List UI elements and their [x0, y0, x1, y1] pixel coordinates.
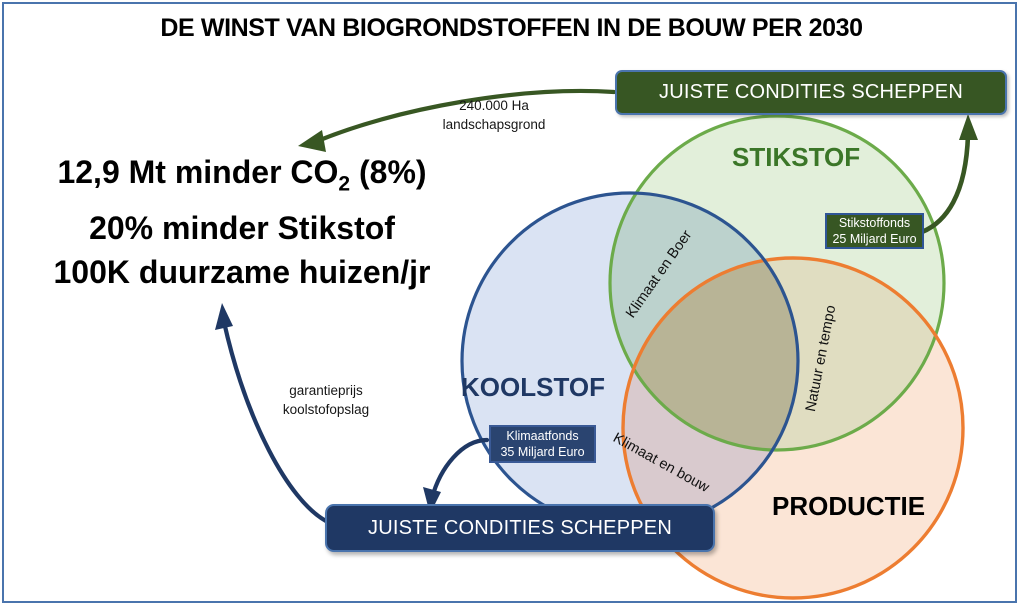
annotation-landschapsgrond-line2: landschapsgrond	[404, 115, 584, 134]
key-figure-stikstof: 20% minder Stikstof	[14, 206, 470, 250]
key-figure-co2: 12,9 Mt minder CO2 (8%)	[14, 150, 470, 206]
conditions-box-stikstof[interactable]: JUISTE CONDITIES SCHEPPEN	[615, 70, 1007, 115]
venn-label-stikstof: STIKSTOF	[732, 142, 860, 173]
key-figure-co2-suffix: (8%)	[350, 154, 426, 190]
annotation-garantieprijs-line1: garantieprijs	[236, 381, 416, 400]
venn-label-koolstof: KOOLSTOF	[461, 372, 605, 403]
fund-box-klimaatfonds-name: Klimaatfonds	[506, 428, 578, 444]
venn-label-productie: PRODUCTIE	[772, 491, 925, 522]
page-title: DE WINST VAN BIOGRONDSTOFFEN IN DE BOUW …	[0, 14, 1023, 43]
annotation-garantieprijs-line2: koolstofopslag	[236, 400, 416, 419]
key-figure-co2-prefix: 12,9 Mt minder CO	[57, 154, 338, 190]
key-figure-co2-subscript: 2	[338, 172, 350, 195]
fund-box-stikstoffonds-name: Stikstoffonds	[839, 215, 910, 231]
fund-box-klimaatfonds-amount: 35 Miljard Euro	[500, 444, 584, 460]
annotation-landschapsgrond-line1: 240.000 Ha	[404, 96, 584, 115]
key-figure-huizen: 100K duurzame huizen/jr	[14, 250, 470, 294]
arrow-klimaatfonds-to-conditions	[423, 440, 487, 514]
annotation-garantieprijs: garantieprijs koolstofopslag	[236, 381, 416, 419]
annotation-landschapsgrond: 240.000 Ha landschapsgrond	[404, 96, 584, 134]
conditions-box-koolstof[interactable]: JUISTE CONDITIES SCHEPPEN	[325, 504, 715, 552]
diagram-canvas: DE WINST VAN BIOGRONDSTOFFEN IN DE BOUW …	[0, 0, 1023, 609]
fund-box-stikstoffonds-amount: 25 Miljard Euro	[832, 231, 916, 247]
fund-box-stikstoffonds[interactable]: Stikstoffonds 25 Miljard Euro	[825, 213, 924, 249]
key-figures: 12,9 Mt minder CO2 (8%) 20% minder Stiks…	[14, 150, 470, 294]
fund-box-klimaatfonds[interactable]: Klimaatfonds 35 Miljard Euro	[489, 425, 596, 463]
